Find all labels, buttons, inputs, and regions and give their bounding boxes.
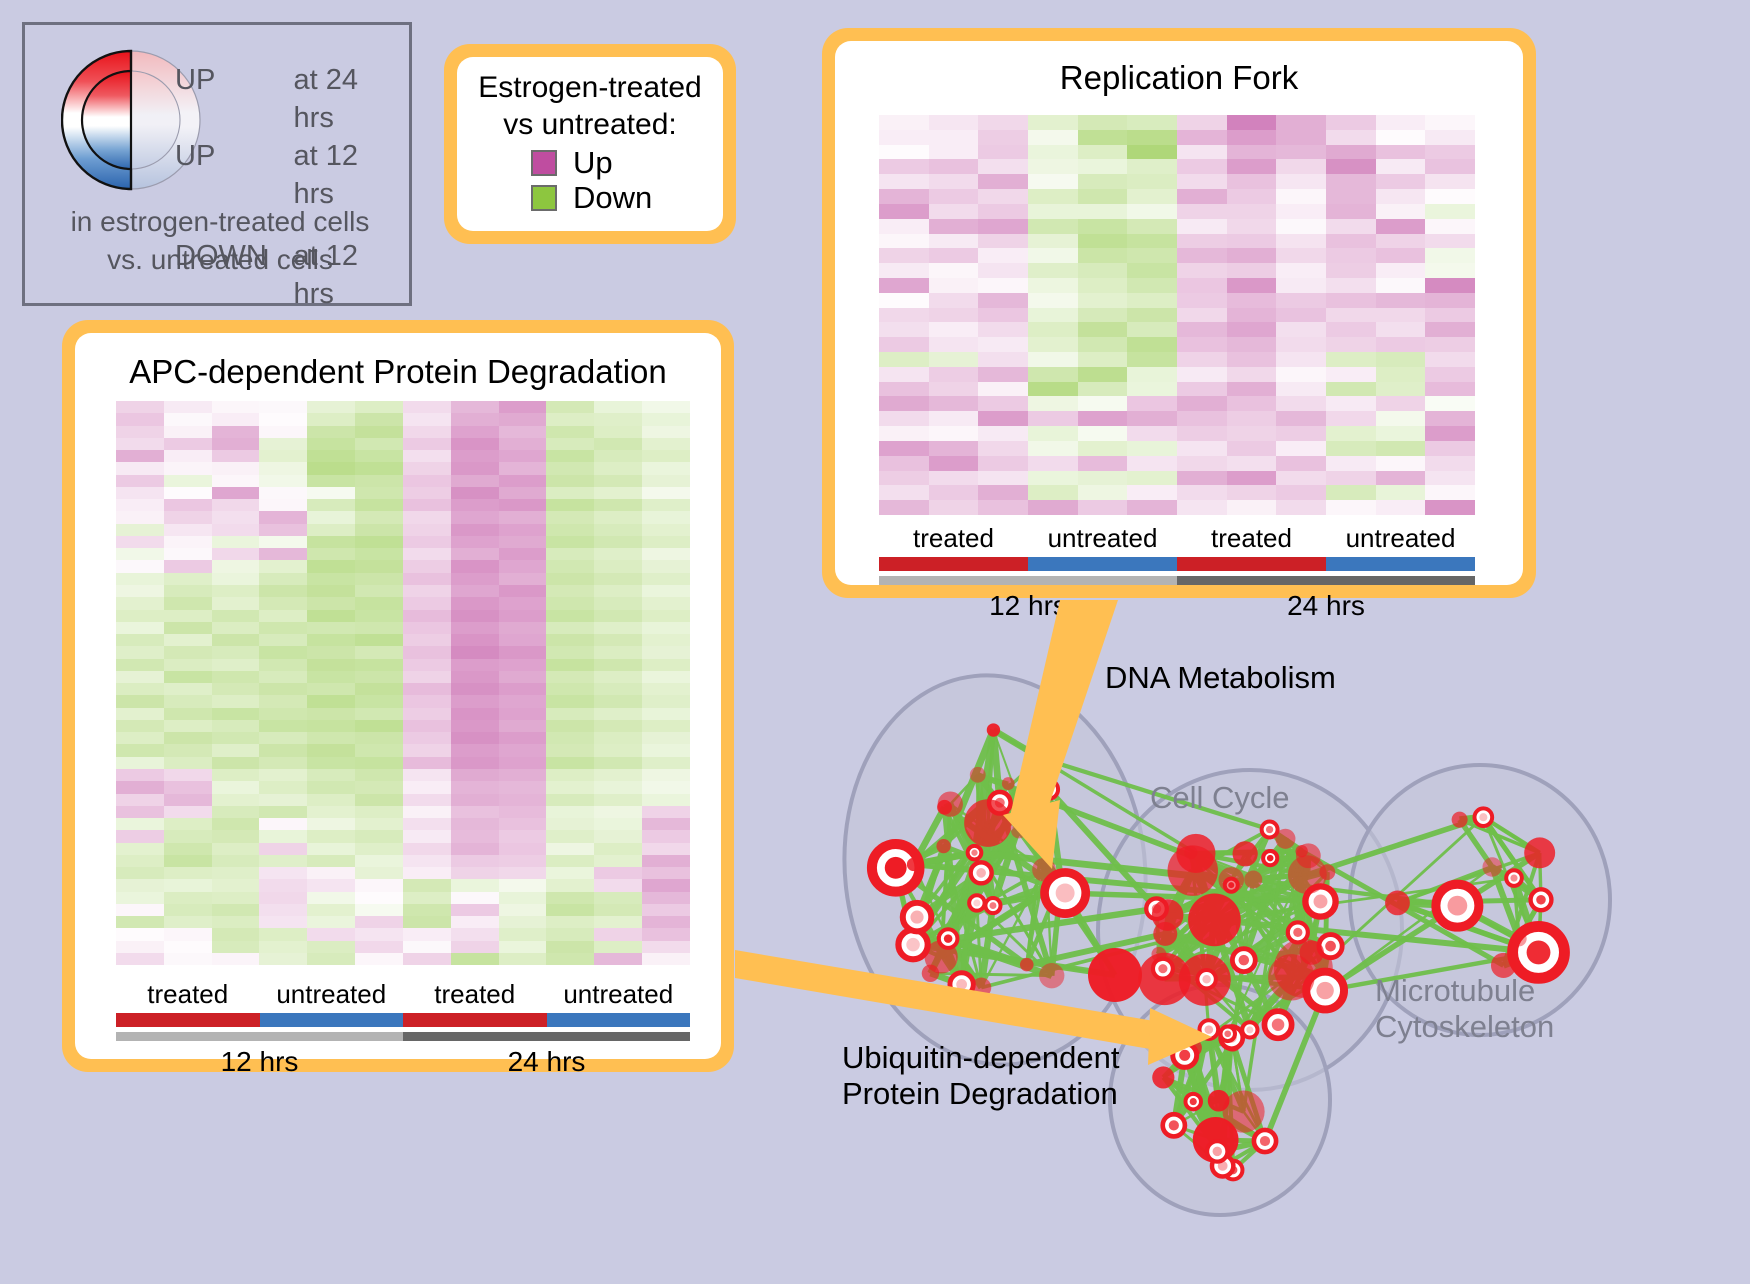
heatmap-cell — [1425, 471, 1475, 486]
heatmap-cell — [546, 610, 594, 622]
heatmap-row — [116, 462, 690, 474]
heatmap-cell — [307, 867, 355, 879]
heatmap-cell — [259, 450, 307, 462]
heatmap-cell — [1425, 278, 1475, 293]
heatmap-cell — [1276, 130, 1326, 145]
heatmap-cell — [594, 732, 642, 744]
network-node — [907, 858, 920, 871]
heatmap-cell — [499, 475, 547, 487]
heatmap-cell — [1078, 500, 1128, 515]
heatmap-cell — [546, 806, 594, 818]
heatmap-cell — [978, 322, 1028, 337]
heatmap-cell — [499, 953, 547, 965]
heatmap-cell — [116, 462, 164, 474]
heatmap-cell — [594, 634, 642, 646]
heatmap-cell — [594, 573, 642, 585]
heatmap-cell — [1425, 382, 1475, 397]
heatmap-cell — [451, 413, 499, 425]
heatmap-cell — [1127, 278, 1177, 293]
condition-label: treated — [116, 979, 260, 1009]
heatmap-cell — [546, 413, 594, 425]
heatmap-row — [879, 382, 1475, 397]
heatmap-cell — [451, 524, 499, 536]
heatmap-cell — [1376, 248, 1426, 263]
network-node-core — [1202, 975, 1210, 983]
heatmap-cell — [1028, 485, 1078, 500]
heatmap-cell — [1376, 456, 1426, 471]
heatmap-cell — [164, 928, 212, 940]
heatmap-cell — [929, 278, 979, 293]
bar-24hrs — [1177, 576, 1475, 585]
heatmap-cell — [1078, 367, 1128, 382]
heatmap-row — [879, 204, 1475, 219]
heatmap-cell — [1028, 248, 1078, 263]
caption-line-2: vs. untreated cells — [25, 241, 415, 279]
heatmap-cell — [451, 855, 499, 867]
heatmap-cell — [1326, 130, 1376, 145]
heatmap-cell — [164, 744, 212, 756]
heatmap-cell — [164, 585, 212, 597]
heatmap-cell — [259, 720, 307, 732]
heatmap-cell — [978, 382, 1028, 397]
heatmap-cell — [642, 683, 690, 695]
network-node — [1039, 963, 1064, 988]
heatmap-cell — [1227, 189, 1277, 204]
heatmap-cell — [929, 426, 979, 441]
heatmap-cell — [451, 426, 499, 438]
heatmap-cell — [164, 830, 212, 842]
heatmap-cell — [451, 610, 499, 622]
heatmap-row — [116, 806, 690, 818]
network-node-core — [944, 934, 953, 943]
heatmap-cell — [978, 456, 1028, 471]
heatmap-cell — [212, 487, 260, 499]
heatmap-cell — [1276, 293, 1326, 308]
heatmap-cell — [594, 511, 642, 523]
heatmap-cell — [116, 818, 164, 830]
heatmap-cell — [879, 115, 929, 130]
heatmap-cell — [355, 695, 403, 707]
network-node-core — [1527, 940, 1551, 964]
key-row-up-24: UP at 24 hrs — [175, 61, 405, 137]
heatmap-cell — [164, 646, 212, 658]
heatmap-cell — [355, 511, 403, 523]
heatmap-cell — [164, 794, 212, 806]
heatmap-cell — [116, 585, 164, 597]
heatmap-cell — [1028, 456, 1078, 471]
heatmap-cell — [1276, 411, 1326, 426]
heatmap-cell — [499, 941, 547, 953]
heatmap-cell — [1127, 426, 1177, 441]
heatmap-cell — [116, 744, 164, 756]
heatmap-row — [116, 585, 690, 597]
heatmap-cell — [642, 953, 690, 965]
heatmap-cell — [403, 487, 451, 499]
heatmap-cell — [355, 928, 403, 940]
heatmap-cell — [212, 585, 260, 597]
heatmap-cell — [642, 794, 690, 806]
network-node-core — [956, 979, 967, 990]
key-when: at 12 hrs — [294, 137, 405, 213]
network-node-core — [1044, 785, 1053, 794]
heatmap-cell — [879, 130, 929, 145]
heatmap-cell — [929, 485, 979, 500]
heatmap-cell — [307, 646, 355, 658]
heatmap-cell — [879, 426, 929, 441]
heatmap-cell — [116, 867, 164, 879]
heatmap-cell — [403, 634, 451, 646]
heatmap-cell — [1127, 485, 1177, 500]
heatmap-row — [116, 438, 690, 450]
heatmap-cell — [1127, 293, 1177, 308]
heatmap-cell — [642, 610, 690, 622]
heatmap-cell — [307, 659, 355, 671]
heatmap-cell — [1028, 278, 1078, 293]
heatmap-cell — [164, 953, 212, 965]
heatmap-cell — [546, 401, 594, 413]
heatmap-cell — [642, 462, 690, 474]
heatmap-cell — [1177, 500, 1227, 515]
heatmap-cell — [355, 499, 403, 511]
legend-panel: Estrogen-treated vs untreated: Up Down — [444, 44, 736, 244]
heatmap-cell — [1127, 382, 1177, 397]
heatmap-cell — [212, 855, 260, 867]
heatmap-cell — [212, 560, 260, 572]
heatmap-cell — [1177, 456, 1227, 471]
heatmap-cell — [307, 634, 355, 646]
heatmap-cell — [1078, 278, 1128, 293]
time-label: 24 hrs — [403, 1045, 690, 1079]
heatmap-cell — [1276, 322, 1326, 337]
heatmap-cell — [116, 573, 164, 585]
heatmap-cell — [1425, 115, 1475, 130]
heatmap-row — [879, 485, 1475, 500]
heatmap-cell — [307, 879, 355, 891]
heatmap-cell — [1028, 308, 1078, 323]
heatmap-cell — [499, 487, 547, 499]
heatmap-cell — [116, 843, 164, 855]
heatmap-cell — [403, 708, 451, 720]
heatmap-cell — [1127, 189, 1177, 204]
heatmap-cell — [1177, 411, 1227, 426]
heatmap-cell — [212, 843, 260, 855]
heatmap-cell — [164, 426, 212, 438]
heatmap-cell — [978, 367, 1028, 382]
heatmap-cell — [594, 524, 642, 536]
heatmap-cell — [1425, 396, 1475, 411]
heatmap-cell — [164, 610, 212, 622]
heatmap-cell — [116, 781, 164, 793]
network-node — [1188, 894, 1241, 947]
heatmap-cell — [1227, 441, 1277, 456]
heatmap-row — [116, 536, 690, 548]
heatmap-row — [116, 499, 690, 511]
heatmap-cell — [1177, 115, 1227, 130]
heatmap-cell — [259, 781, 307, 793]
heatmap-cell — [642, 916, 690, 928]
heatmap-row — [879, 352, 1475, 367]
heatmap-cell — [1078, 485, 1128, 500]
heatmap-cell — [978, 337, 1028, 352]
heatmap-cell — [212, 806, 260, 818]
heatmap-cell — [546, 659, 594, 671]
heatmap-cell — [1425, 234, 1475, 249]
heatmap-cell — [116, 659, 164, 671]
heatmap-cell — [451, 843, 499, 855]
heatmap-cell — [929, 115, 979, 130]
bar-treated — [879, 557, 1028, 571]
heatmap-cell — [1078, 396, 1128, 411]
heatmap-cell — [642, 720, 690, 732]
heatmap-cell — [164, 806, 212, 818]
heatmap-cell — [259, 806, 307, 818]
heatmap-cell — [451, 487, 499, 499]
network-node-core — [1325, 941, 1336, 952]
heatmap-cell — [1028, 382, 1078, 397]
heatmap-cell — [1227, 352, 1277, 367]
heatmap-cell — [594, 806, 642, 818]
heatmap-cell — [259, 438, 307, 450]
heatmap-cell — [594, 953, 642, 965]
heatmap-cell — [259, 536, 307, 548]
heatmap-cell — [594, 916, 642, 928]
heatmap-cell — [164, 659, 212, 671]
heatmap-cell — [1227, 159, 1277, 174]
heatmap-cell — [642, 560, 690, 572]
heatmap-cell — [1376, 174, 1426, 189]
heatmap-cell — [929, 308, 979, 323]
heatmap-cell — [116, 941, 164, 953]
heatmap-cell — [1425, 308, 1475, 323]
heatmap-row — [879, 159, 1475, 174]
heatmap-row — [879, 441, 1475, 456]
condition-label: untreated — [547, 979, 691, 1009]
heatmap-cell — [546, 953, 594, 965]
heatmap-cell — [307, 708, 355, 720]
heatmap-cell — [499, 536, 547, 548]
heatmap-cell — [546, 843, 594, 855]
heatmap-cell — [594, 683, 642, 695]
heatmap-cell — [642, 511, 690, 523]
heatmap-cell — [642, 413, 690, 425]
heatmap-cell — [642, 426, 690, 438]
heatmap-cell — [116, 413, 164, 425]
heatmap-cell — [929, 174, 979, 189]
heatmap-cell — [403, 646, 451, 658]
bar-untreated — [1028, 557, 1177, 571]
heatmap-cell — [1127, 219, 1177, 234]
heatmap-cell — [879, 485, 929, 500]
heatmap-cell — [259, 634, 307, 646]
heatmap-cell — [1127, 263, 1177, 278]
key-row-up-12: UP at 12 hrs — [175, 137, 405, 213]
heatmap-cell — [212, 548, 260, 560]
heatmap-cell — [116, 511, 164, 523]
heatmap-cell — [1376, 130, 1426, 145]
heatmap-cell — [978, 174, 1028, 189]
heatmap-cell — [929, 204, 979, 219]
heatmap-cell — [642, 708, 690, 720]
key-when: at 24 hrs — [294, 61, 405, 137]
heatmap-cell — [355, 573, 403, 585]
heatmap-row — [116, 794, 690, 806]
heatmap-cell — [594, 855, 642, 867]
heatmap-cell — [259, 475, 307, 487]
heatmap-cell — [1127, 174, 1177, 189]
heatmap-cell — [451, 744, 499, 756]
heatmap-cell — [594, 708, 642, 720]
colour-key-panel: UP at 24 hrs UP at 12 hrs DOWN at 12 hrs… — [22, 22, 412, 306]
heatmap-cell — [307, 916, 355, 928]
heatmap-cell — [594, 536, 642, 548]
heatmap-row — [879, 145, 1475, 160]
network-node — [1275, 829, 1295, 849]
replication-fork-panel: Replication Fork treated untreated treat… — [822, 28, 1536, 598]
heatmap-cell — [1276, 337, 1326, 352]
bar-treated — [116, 1013, 260, 1027]
heatmap-cell — [1326, 411, 1376, 426]
heatmap-cell — [879, 500, 929, 515]
heatmap-cell — [978, 159, 1028, 174]
heatmap-cell — [594, 843, 642, 855]
heatmap-cell — [164, 597, 212, 609]
heatmap-row — [116, 732, 690, 744]
heatmap-cell — [307, 610, 355, 622]
heatmap-row — [879, 367, 1475, 382]
heatmap-cell — [259, 867, 307, 879]
heatmap-cell — [1376, 204, 1426, 219]
heatmap-cell — [546, 830, 594, 842]
heatmap-cell — [164, 892, 212, 904]
heatmap-cell — [499, 548, 547, 560]
heatmap-cell — [1028, 367, 1078, 382]
heatmap-cell — [355, 646, 403, 658]
heatmap-cell — [116, 536, 164, 548]
heatmap-cell — [307, 806, 355, 818]
heatmap-cell — [1028, 234, 1078, 249]
heatmap-cell — [355, 769, 403, 781]
heatmap-cell — [642, 622, 690, 634]
heatmap-cell — [403, 732, 451, 744]
heatmap-cell — [929, 159, 979, 174]
heatmap-cell — [546, 634, 594, 646]
heatmap-cell — [1028, 189, 1078, 204]
bar-untreated — [1326, 557, 1475, 571]
heatmap-cell — [1425, 293, 1475, 308]
network-node-core — [1205, 1025, 1214, 1034]
network-node-core — [885, 857, 907, 879]
heatmap-cell — [594, 794, 642, 806]
heatmap-cell — [259, 904, 307, 916]
heatmap-cell — [594, 646, 642, 658]
heatmap-cell — [307, 757, 355, 769]
heatmap-cell — [1078, 234, 1128, 249]
heatmap-cell — [879, 308, 929, 323]
heatmap-cell — [403, 757, 451, 769]
network-node-core — [1213, 1147, 1222, 1156]
heatmap-cell — [1078, 204, 1128, 219]
heatmap-cell — [1028, 263, 1078, 278]
network-node — [1288, 855, 1327, 894]
heatmap-cell — [1078, 352, 1128, 367]
heatmap-row — [879, 293, 1475, 308]
heatmap-cell — [212, 928, 260, 940]
heatmap-cell — [259, 548, 307, 560]
heatmap-cell — [1227, 263, 1277, 278]
heatmap-cell — [212, 597, 260, 609]
heatmap-cell — [307, 560, 355, 572]
heatmap-cell — [355, 892, 403, 904]
heatmap-cell — [451, 708, 499, 720]
heatmap-cell — [1078, 115, 1128, 130]
heatmap-cell — [1028, 396, 1078, 411]
heatmap-cell — [1425, 219, 1475, 234]
heatmap-cell — [1028, 322, 1078, 337]
heatmap-cell — [355, 708, 403, 720]
heatmap-cell — [642, 475, 690, 487]
network-node-core — [971, 850, 977, 856]
heatmap-cell — [1326, 337, 1376, 352]
heatmap-cell — [1127, 234, 1177, 249]
heatmap-cell — [451, 928, 499, 940]
heatmap-cell — [594, 413, 642, 425]
heatmap-cell — [1028, 115, 1078, 130]
heatmap-cell — [1127, 471, 1177, 486]
network-node-core — [1314, 895, 1328, 909]
heatmap-row — [116, 634, 690, 646]
heatmap-cell — [259, 916, 307, 928]
heatmap-cell — [1376, 189, 1426, 204]
heatmap-cell — [929, 456, 979, 471]
heatmap-cell — [594, 904, 642, 916]
condition-label: untreated — [1326, 523, 1475, 553]
heatmap-cell — [546, 757, 594, 769]
heatmap-cell — [403, 928, 451, 940]
heatmap-cell — [1425, 426, 1475, 441]
heatmap-cell — [451, 818, 499, 830]
heatmap-cell — [1425, 204, 1475, 219]
heatmap-cell — [1326, 263, 1376, 278]
heatmap-cell — [546, 708, 594, 720]
heatmap-cell — [451, 573, 499, 585]
heatmap-cell — [307, 536, 355, 548]
heatmap-cell — [929, 411, 979, 426]
heatmap-cell — [116, 475, 164, 487]
heatmap-cell — [1276, 500, 1326, 515]
heatmap-cell — [1326, 145, 1376, 160]
heatmap-cell — [116, 708, 164, 720]
heatmap-cell — [451, 499, 499, 511]
heatmap-cell — [1227, 145, 1277, 160]
heatmap-cell — [1177, 248, 1227, 263]
heatmap-cell — [307, 487, 355, 499]
heatmap-row — [116, 560, 690, 572]
heatmap-cell — [355, 806, 403, 818]
network-node-core — [973, 899, 980, 906]
heatmap-cell — [546, 475, 594, 487]
heatmap-cell — [1227, 219, 1277, 234]
heatmap-row — [116, 683, 690, 695]
heatmap-cell — [403, 426, 451, 438]
legend-item-up: Up — [531, 147, 723, 178]
heatmap-cell — [499, 426, 547, 438]
heatmap-cell — [499, 781, 547, 793]
heatmap-cell — [164, 511, 212, 523]
heatmap-cell — [259, 879, 307, 891]
heatmap-cell — [642, 487, 690, 499]
heatmap-cell — [116, 499, 164, 511]
heatmap-cell — [212, 744, 260, 756]
